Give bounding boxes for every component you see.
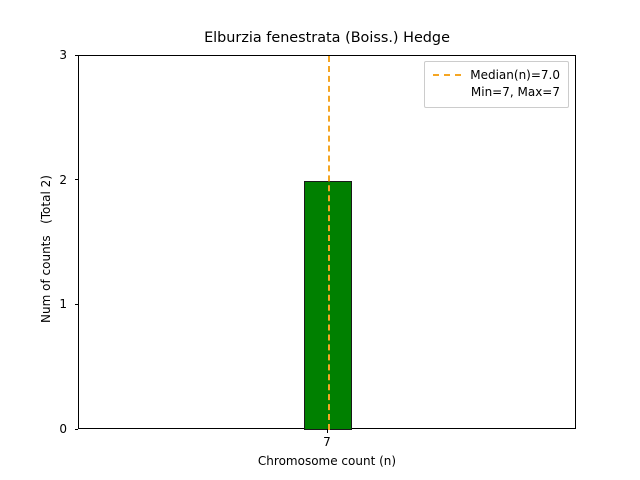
y-tick-label: 0 xyxy=(59,420,67,438)
x-tick-mark xyxy=(327,429,328,433)
y-axis-label: Num of counts (Total 2) xyxy=(39,39,53,459)
legend-dashed-line-sample xyxy=(433,74,461,76)
x-axis-label: Chromosome count (n) xyxy=(78,454,576,468)
y-tick-mark xyxy=(75,179,79,180)
y-tick-mark xyxy=(75,429,79,430)
plot-area: Median(n)=7.0 Min=7, Max=7 xyxy=(78,55,576,429)
legend-labels: Median(n)=7.0 Min=7, Max=7 xyxy=(470,67,560,101)
legend-label-minmax: Min=7, Max=7 xyxy=(471,84,560,101)
y-tick-label: 3 xyxy=(59,46,67,64)
chart-title: Elburzia fenestrata (Boiss.) Hedge xyxy=(78,30,576,46)
legend-label-median: Median(n)=7.0 xyxy=(470,67,560,84)
x-tick-label: 7 xyxy=(323,435,331,449)
legend-box: Median(n)=7.0 Min=7, Max=7 xyxy=(424,61,569,108)
chart-figure: Elburzia fenestrata (Boiss.) Hedge Media… xyxy=(0,0,640,480)
y-tick-mark xyxy=(75,304,79,305)
y-tick-label: 1 xyxy=(59,295,67,313)
y-tick-mark xyxy=(75,55,79,56)
median-line xyxy=(328,56,330,430)
y-tick-label: 2 xyxy=(59,171,67,189)
